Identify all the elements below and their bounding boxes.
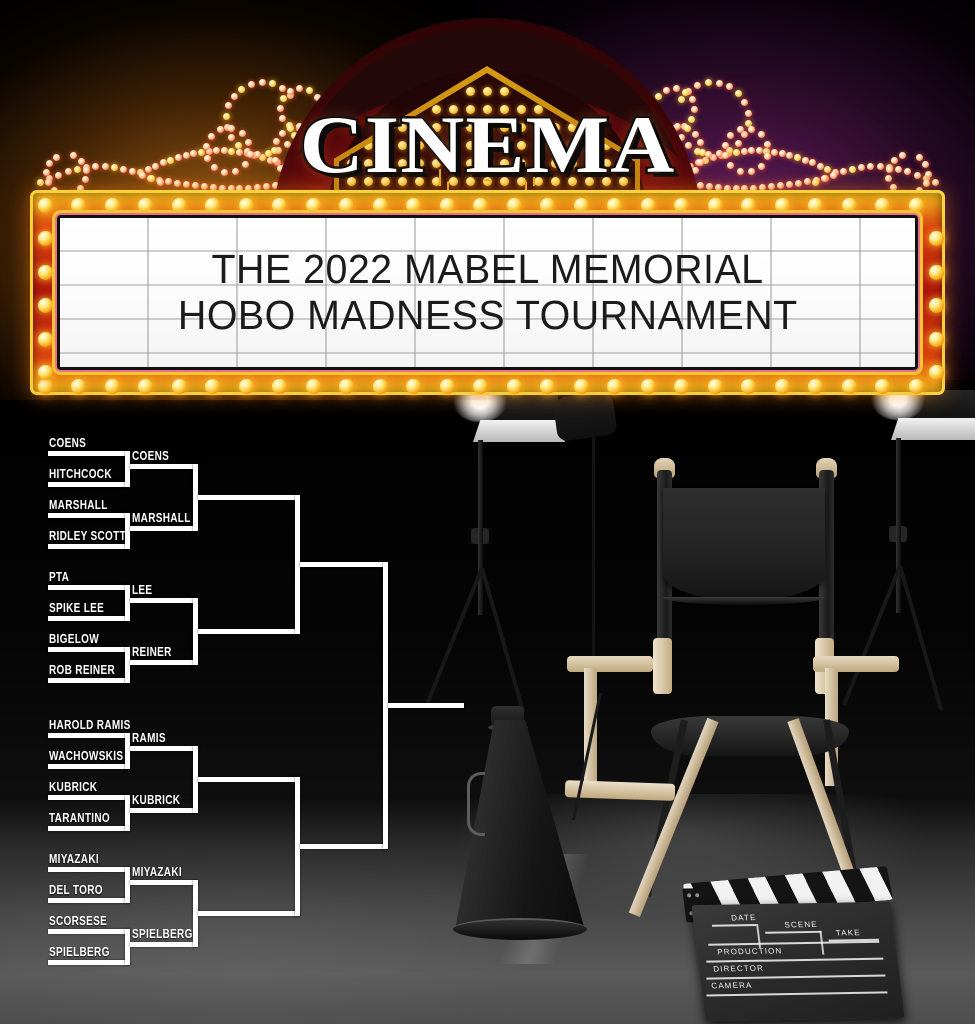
bracket-connector	[388, 703, 464, 708]
bracket-entrant-9[interactable]: HAROLD RAMIS	[49, 718, 131, 732]
bracket-round2-winner-8[interactable]: SPIELBERG	[132, 927, 193, 941]
bracket-connector	[130, 464, 198, 469]
bracket-round2-winner-4[interactable]: REINER	[132, 645, 172, 659]
bracket-connector	[48, 585, 130, 590]
bracket-connector	[48, 616, 130, 621]
bracket-entrant-15[interactable]: SCORSESE	[49, 914, 107, 928]
bracket-connector	[48, 544, 130, 549]
bracket-connector	[48, 482, 130, 487]
bracket-connector	[130, 526, 198, 531]
bracket-connector	[125, 795, 130, 831]
bracket-connector	[198, 495, 300, 500]
clapper-camera-label: CAMERA	[711, 981, 753, 991]
bracket-entrant-12[interactable]: TARANTINO	[49, 811, 110, 825]
bracket-entrant-3[interactable]: MARSHALL	[49, 498, 108, 512]
bracket-connector	[125, 585, 130, 621]
bracket-connector	[300, 844, 388, 849]
clapper-date-label: DATE	[731, 913, 757, 922]
poster-canvas: DATE SCENE TAKE PRODUCTION DIRECTOR CAME…	[0, 0, 975, 1024]
bracket-entrant-5[interactable]: PTA	[49, 570, 69, 584]
cinema-brand-title: CINEMA	[0, 104, 975, 186]
bracket-connector	[48, 678, 130, 683]
tournament-bracket: COENSHITCHCOCKMARSHALLRIDLEY SCOTTPTASPI…	[0, 400, 520, 1024]
bracket-entrant-1[interactable]: COENS	[49, 436, 86, 450]
bracket-connector	[125, 647, 130, 683]
bracket-entrant-16[interactable]: SPIELBERG	[49, 945, 110, 959]
bracket-entrant-13[interactable]: MIYAZAKI	[49, 852, 99, 866]
bracket-entrant-10[interactable]: WACHOWSKIS	[49, 749, 123, 763]
bracket-entrant-2[interactable]: HITCHCOCK	[49, 467, 112, 481]
marquee-text: THE 2022 MABEL MEMORIAL HOBO MADNESS TOU…	[60, 218, 915, 367]
bracket-connector	[300, 562, 388, 567]
bracket-connector	[48, 867, 130, 872]
bracket-entrant-7[interactable]: BIGELOW	[49, 632, 99, 646]
bracket-connector	[130, 746, 198, 751]
bracket-connector	[48, 647, 130, 652]
clapperboard: DATE SCENE TAKE PRODUCTION DIRECTOR CAME…	[682, 857, 914, 1024]
bracket-connector	[48, 733, 130, 738]
bracket-connector	[130, 942, 198, 947]
bracket-connector	[125, 733, 130, 769]
bracket-connector	[48, 929, 130, 934]
bracket-entrant-4[interactable]: RIDLEY SCOTT	[49, 529, 126, 543]
clapper-director-label: DIRECTOR	[713, 964, 765, 974]
marquee-line-2: HOBO MADNESS TOURNAMENT	[178, 294, 798, 337]
bracket-connector	[198, 911, 300, 916]
bracket-connector	[48, 898, 130, 903]
bracket-connector	[48, 795, 130, 800]
bracket-round2-winner-5[interactable]: RAMIS	[132, 731, 166, 745]
marquee-letterboard-frame: THE 2022 MABEL MEMORIAL HOBO MADNESS TOU…	[57, 215, 918, 370]
clapper-production-label: PRODUCTION	[717, 946, 783, 956]
bracket-connector	[198, 777, 300, 782]
bracket-round2-winner-7[interactable]: MIYAZAKI	[132, 865, 182, 879]
bracket-connector	[125, 867, 130, 903]
bracket-round2-winner-1[interactable]: COENS	[132, 449, 169, 463]
bracket-connector	[130, 598, 198, 603]
clapper-slate: DATE SCENE TAKE PRODUCTION DIRECTOR CAME…	[691, 902, 904, 1022]
bracket-connector	[48, 960, 130, 965]
bracket-entrant-11[interactable]: KUBRICK	[49, 780, 97, 794]
bracket-connector	[130, 660, 198, 665]
bracket-round2-winner-2[interactable]: MARSHALL	[132, 511, 191, 525]
marquee-line-1: THE 2022 MABEL MEMORIAL	[211, 248, 763, 291]
marquee-board: THE 2022 MABEL MEMORIAL HOBO MADNESS TOU…	[30, 190, 945, 395]
bracket-connector	[125, 513, 130, 549]
bracket-connector	[130, 880, 198, 885]
bracket-round2-winner-6[interactable]: KUBRICK	[132, 793, 180, 807]
bracket-connector	[48, 826, 130, 831]
bracket-connector	[48, 451, 130, 456]
bracket-connector	[130, 808, 198, 813]
bracket-round2-winner-3[interactable]: LEE	[132, 583, 152, 597]
bracket-connector	[125, 929, 130, 965]
clapper-take-label: TAKE	[835, 928, 861, 937]
bracket-connector	[198, 629, 300, 634]
bracket-entrant-8[interactable]: ROB REINER	[49, 663, 115, 677]
bracket-entrant-14[interactable]: DEL TORO	[49, 883, 103, 897]
bracket-connector	[48, 513, 130, 518]
bracket-entrant-6[interactable]: SPIKE LEE	[49, 601, 104, 615]
bracket-connector	[48, 764, 130, 769]
clapper-scene-label: SCENE	[784, 920, 818, 930]
bracket-connector	[125, 451, 130, 487]
